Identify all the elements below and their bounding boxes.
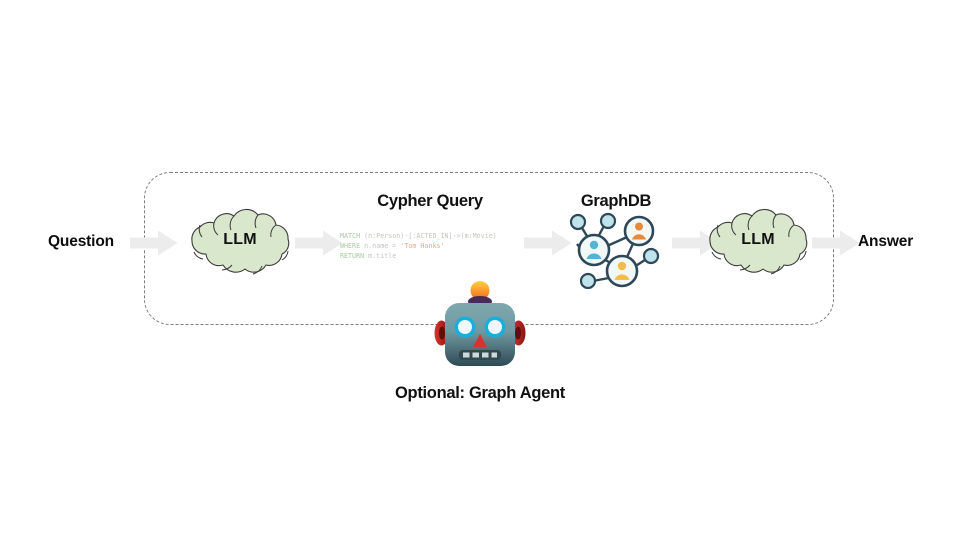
code-string-tom-hanks: 'Tom Hanks' <box>400 242 444 250</box>
node-llm-left: LLM <box>186 203 294 281</box>
code-keyword-return: RETURN <box>340 252 364 260</box>
arrow-question-to-llm <box>130 230 178 256</box>
caption-optional-graph-agent: Optional: Graph Agent <box>330 385 630 402</box>
output-label-answer: Answer <box>858 234 913 250</box>
heading-cypher-query: Cypher Query <box>358 193 502 210</box>
arrow-cypher-to-graphdb <box>524 230 572 256</box>
graph-network-icon <box>566 211 666 289</box>
code-line3-rest: m.title <box>364 252 396 260</box>
heading-graphdb: GraphDB <box>561 193 671 210</box>
code-line2-mid: n.name = <box>360 242 400 250</box>
robot-icon <box>434 278 526 374</box>
code-keyword-where: WHERE <box>340 242 360 250</box>
cypher-code-block: MATCH (n:Person)-[:ACTED_IN]->(m:Movie) … <box>340 231 518 262</box>
input-label-question: Question <box>48 234 114 250</box>
node-llm-right: LLM <box>704 203 812 281</box>
arrow-llm-to-cypher <box>295 230 343 256</box>
diagram-canvas: Question Answer LLM Cypher Query M <box>0 0 960 540</box>
code-keyword-match: MATCH <box>340 232 360 240</box>
code-line1-rest: (n:Person)-[:ACTED_IN]->(m:Movie) <box>360 232 497 240</box>
arrow-llm-to-answer <box>812 230 860 256</box>
